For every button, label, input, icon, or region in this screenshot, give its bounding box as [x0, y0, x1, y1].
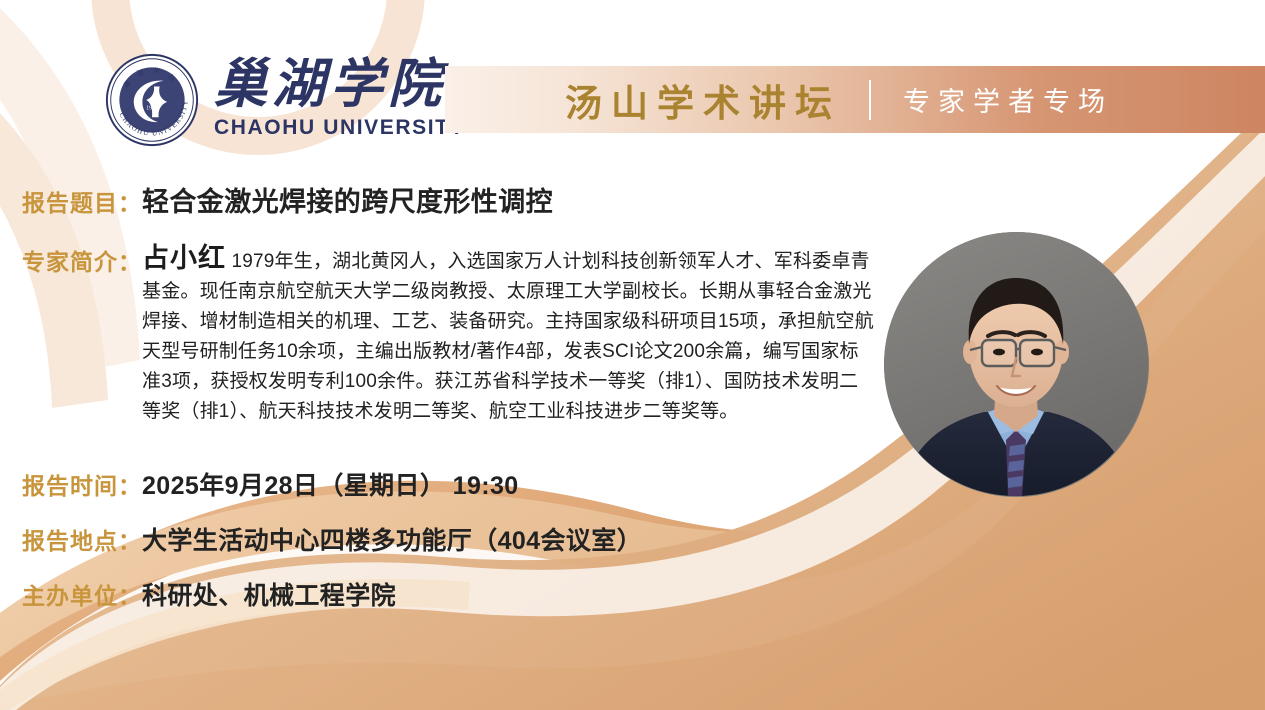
poster-root: 1977 CHAOHU UNIVERSITY 巢湖学院 巢湖学院 CHAOHU …	[0, 0, 1265, 710]
bio-line-2: 基金。现任南京航空航天大学二级岗教授、太原理工大学副校长。长期从事轻合金激光	[142, 277, 862, 307]
bio-line-4: 天型号研制任务10余项，主编出版教材/著作4部，发表SCI论文200余篇，编写国…	[142, 337, 862, 367]
logo-name-en: CHAOHU UNIVERSITY	[214, 115, 465, 140]
bio-line-6: 等奖（排1）、航天科技技术发明二等奖、航空工业科技进步二等奖等。	[142, 397, 862, 427]
bio-line-5: 准3项，获授权发明专利100余件。获江苏省科学技术一等奖（排1）、国防技术发明二	[142, 367, 862, 397]
bio-line-1: 1979年生，湖北黄冈人，入选国家万人计划科技创新领军人才、军科委卓青	[226, 251, 870, 272]
organizer-value: 科研处、机械工程学院	[142, 576, 396, 612]
report-place-label: 报告地点：	[22, 522, 142, 556]
organizer-label: 主办单位：	[22, 577, 142, 611]
forum-banner: 汤山学术讲坛 专家学者专场	[445, 66, 1265, 133]
logo-name-cn: 巢湖学院	[214, 58, 465, 114]
chaohu-university-seal-icon: 1977 CHAOHU UNIVERSITY 巢湖学院	[104, 52, 200, 148]
report-time-value: 2025年9月28日（星期日） 19:30	[142, 466, 519, 502]
speaker-bio-label: 专家简介：	[22, 243, 142, 277]
report-place-value: 大学生活动中心四楼多功能厅（404会议室）	[142, 521, 642, 557]
speaker-name: 占小红	[142, 243, 226, 273]
banner-main-title: 汤山学术讲坛	[565, 73, 841, 127]
svg-text:1977: 1977	[146, 106, 158, 112]
organizer-row: 主办单位： 科研处、机械工程学院	[22, 576, 396, 612]
report-time-row: 报告时间： 2025年9月28日（星期日） 19:30	[22, 466, 519, 502]
bio-line-3: 焊接、增材制造相关的机理、工艺、装备研究。主持国家级科研项目15项，承担航空航	[142, 307, 862, 337]
report-time-label: 报告时间：	[22, 467, 142, 501]
report-title-row: 报告题目： 轻合金激光焊接的跨尺度形性调控	[22, 180, 553, 219]
university-logo: 1977 CHAOHU UNIVERSITY 巢湖学院 巢湖学院 CHAOHU …	[104, 52, 465, 148]
report-title-label: 报告题目：	[22, 184, 142, 218]
speaker-bio-row: 专家简介： 占小红 1979年生，湖北黄冈人，入选国家万人计划科技创新领军人才、…	[22, 243, 862, 427]
speaker-portrait-image	[884, 232, 1149, 497]
banner-subtitle: 专家学者专场	[903, 80, 1113, 119]
speaker-bio-body: 占小红 1979年生，湖北黄冈人，入选国家万人计划科技创新领军人才、军科委卓青 …	[142, 243, 862, 427]
report-title-value: 轻合金激光焊接的跨尺度形性调控	[142, 180, 553, 219]
speaker-portrait	[884, 232, 1149, 497]
report-place-row: 报告地点： 大学生活动中心四楼多功能厅（404会议室）	[22, 521, 642, 557]
banner-divider	[869, 80, 871, 120]
